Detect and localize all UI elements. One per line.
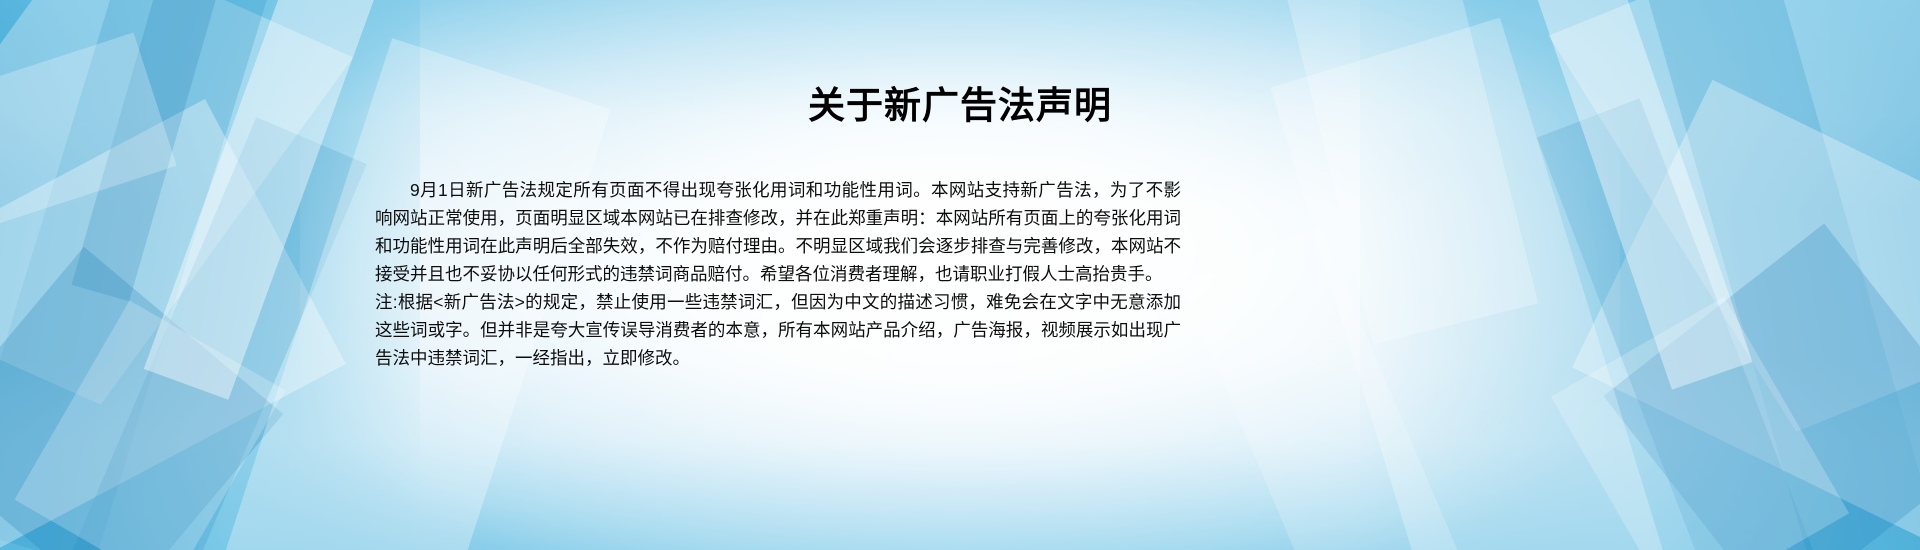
advertising-law-statement-banner: 关于新广告法声明 9月1日新广告法规定所有页面不得出现夸张化用词和功能性用词。本… (0, 0, 1920, 550)
statement-paragraph-2: 注:根据<新广告法>的规定，禁止使用一些违禁词汇，但因为中文的描述习惯，难免会在… (375, 288, 1181, 372)
statement-body: 9月1日新广告法规定所有页面不得出现夸张化用词和功能性用词。本网站支持新广告法，… (375, 176, 1181, 372)
statement-paragraph-1: 9月1日新广告法规定所有页面不得出现夸张化用词和功能性用词。本网站支持新广告法，… (375, 176, 1181, 288)
page-title: 关于新广告法声明 (0, 84, 1920, 128)
